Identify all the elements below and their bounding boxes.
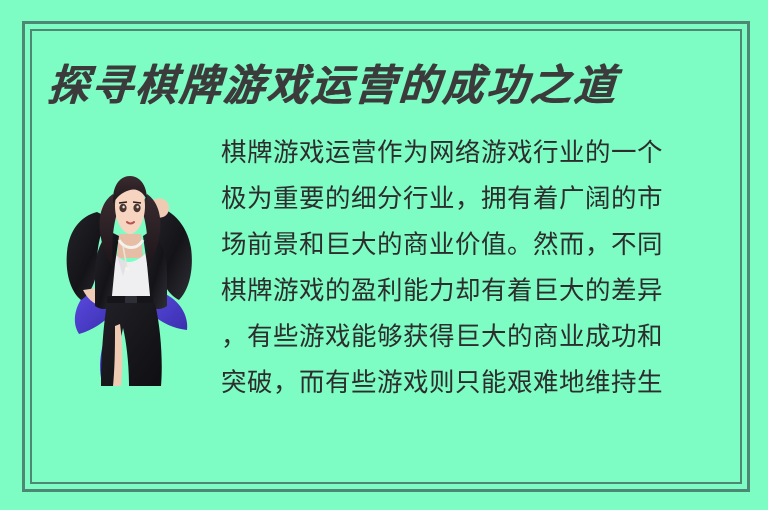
page-title: 探寻棋牌游戏运营的成功之道: [46, 56, 662, 115]
body-line: 突破，而有些游戏则只能艰难地维持生: [221, 360, 727, 406]
character-illustration-graphic: [57, 172, 203, 386]
body-line: 棋牌游戏运营作为网络游戏行业的一个: [221, 130, 727, 176]
character-illustration: [57, 172, 203, 386]
poster-canvas: 探寻棋牌游戏运营的成功之道: [0, 0, 768, 510]
body-line: 极为重要的细分行业，拥有着广阔的市: [221, 176, 727, 222]
body-line: 场前景和巨大的商业价值。然而，不同: [221, 222, 727, 268]
body-line: ，有些游戏能够获得巨大的商业成功和: [221, 314, 727, 360]
article-body: 棋牌游戏运营作为网络游戏行业的一个 极为重要的细分行业，拥有着广阔的市 场前景和…: [221, 130, 727, 406]
body-line: 棋牌游戏的盈利能力却有着巨大的差异: [221, 268, 727, 314]
